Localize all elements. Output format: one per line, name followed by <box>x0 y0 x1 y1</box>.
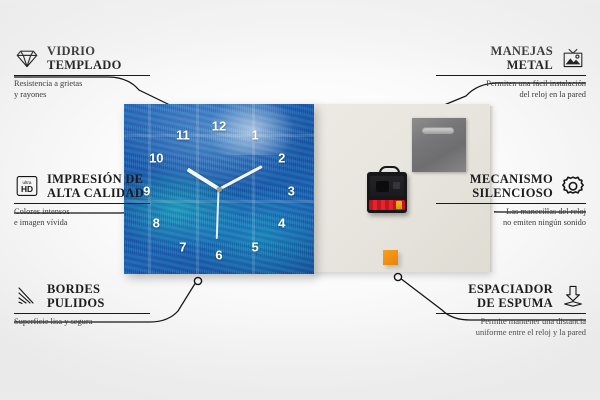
diamond-icon <box>14 46 40 70</box>
ultra-hd-icon: ultra HD <box>14 174 40 198</box>
feature-title: IMPRESIÓN DE ALTA CALIDAD <box>47 172 144 200</box>
feature-description: Permiten una fácil instalación del reloj… <box>436 79 586 101</box>
feature-mecanismo-silencioso: MECANISMO SILENCIOSO Las manecillas del … <box>436 172 586 229</box>
feature-divider <box>436 203 586 204</box>
mechanism-button <box>393 182 400 189</box>
mechanism-recess <box>376 181 389 192</box>
clock-numeral: 7 <box>179 240 186 253</box>
hanger-slot <box>422 127 454 134</box>
feature-title: BORDES PULIDOS <box>47 282 105 310</box>
feature-divider <box>14 75 150 76</box>
svg-text:HD: HD <box>21 184 33 194</box>
feature-description: Permite mantener una distancia uniforme … <box>436 317 586 339</box>
gear-icon <box>560 174 586 198</box>
feature-divider <box>14 203 150 204</box>
feature-vidrio-templado: VIDRIO TEMPLADO Resistencia a grietas y … <box>14 44 164 101</box>
battery-label <box>369 200 405 210</box>
feature-espaciador-espuma: ESPACIADOR DE ESPUMA Permite mantener un… <box>436 282 586 339</box>
feature-description: Las manecillas del reloj no emiten ningú… <box>436 207 586 229</box>
infographic-canvas: 12 1 2 3 4 5 6 7 8 9 10 11 <box>0 0 600 400</box>
feature-bordes-pulidos: BORDES PULIDOS Superficie lisa y segura <box>14 282 164 328</box>
clock-mechanism <box>367 172 407 213</box>
down-arrow-spacer-icon <box>560 284 586 308</box>
metal-hanger-plate <box>412 118 466 172</box>
foam-spacer <box>383 250 398 265</box>
feature-title: MECANISMO SILENCIOSO <box>470 172 553 200</box>
clock-numeral: 11 <box>176 128 190 141</box>
feature-impresion-alta-calidad: ultra HD IMPRESIÓN DE ALTA CALIDAD Color… <box>14 172 164 229</box>
polished-edges-icon <box>14 284 40 308</box>
clock-numeral: 1 <box>251 128 258 141</box>
clock-numeral: 12 <box>212 120 226 133</box>
feature-manejas-metal: MANEJAS METAL Permiten una fácil instala… <box>436 44 586 101</box>
mechanism-body <box>370 176 404 196</box>
feature-title: VIDRIO TEMPLADO <box>47 44 122 72</box>
feature-divider <box>436 75 586 76</box>
clock-numeral: 4 <box>278 217 285 230</box>
feature-title: ESPACIADOR DE ESPUMA <box>468 282 553 310</box>
clock-center-pin <box>217 187 222 192</box>
feature-description: Superficie lisa y segura <box>14 317 164 328</box>
clock-numeral: 5 <box>251 240 258 253</box>
feature-title: MANEJAS METAL <box>490 44 553 72</box>
picture-frame-icon <box>560 46 586 70</box>
clock-numeral: 2 <box>278 152 285 165</box>
clock-numeral: 6 <box>215 249 222 262</box>
feature-divider <box>436 313 586 314</box>
feature-description: Resistencia a grietas y rayones <box>14 79 164 101</box>
clock-numeral: 3 <box>288 184 295 197</box>
clock-numeral: 10 <box>149 152 163 165</box>
feature-divider <box>14 313 150 314</box>
feature-description: Colores intensos e imagen vívida <box>14 207 164 229</box>
